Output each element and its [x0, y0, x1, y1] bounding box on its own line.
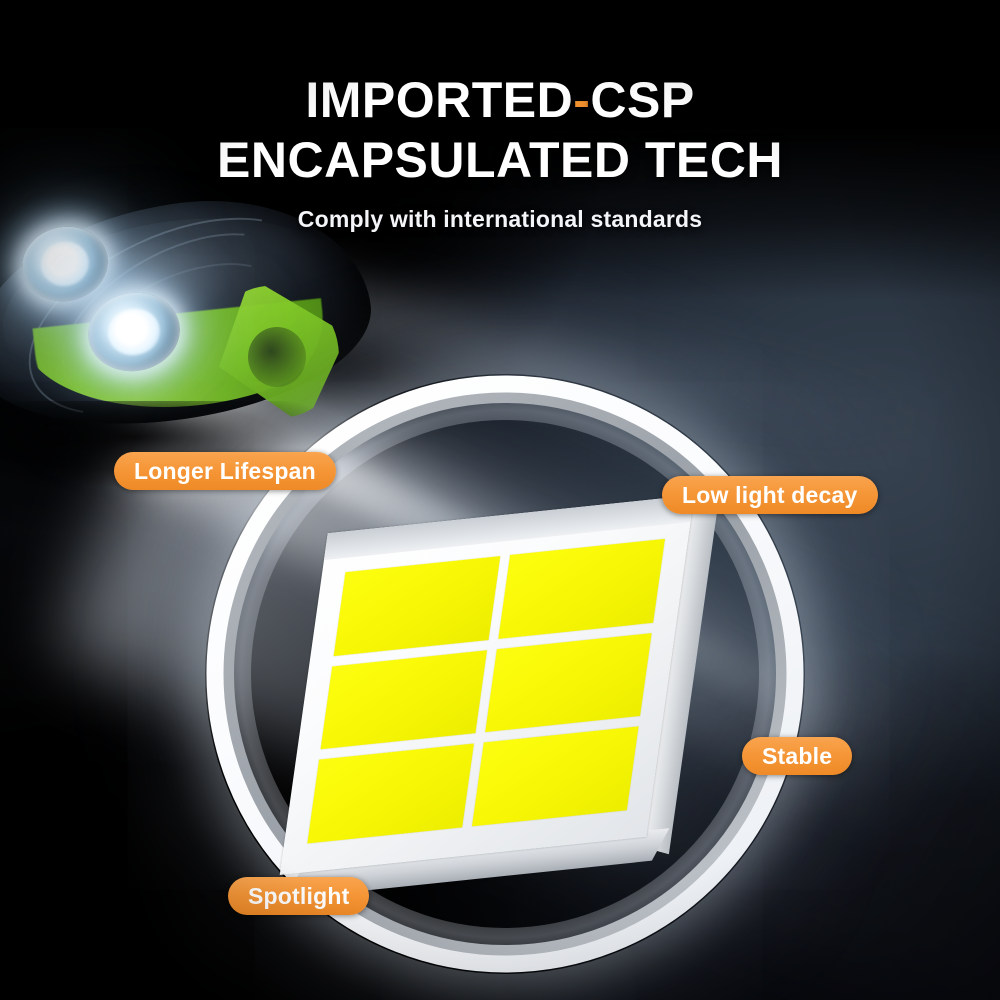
- badge-low-light-decay[interactable]: Low light decay: [662, 476, 878, 514]
- led-pad: [321, 650, 488, 750]
- led-pad: [498, 539, 665, 639]
- badge-longer-lifespan[interactable]: Longer Lifespan: [114, 452, 336, 490]
- product-feature-poster: IMPORTED-CSP ENCAPSULATED TECH Comply wi…: [0, 0, 1000, 1000]
- csp-led-chip: [280, 495, 695, 875]
- badge-spotlight[interactable]: Spotlight: [228, 877, 369, 915]
- led-pad-grid: [307, 539, 665, 844]
- led-pad: [472, 727, 639, 827]
- chip-ceramic-substrate: [280, 495, 695, 875]
- led-pad: [485, 633, 652, 733]
- badge-stable[interactable]: Stable: [742, 737, 852, 775]
- led-pad: [334, 556, 501, 656]
- led-pad: [307, 744, 474, 844]
